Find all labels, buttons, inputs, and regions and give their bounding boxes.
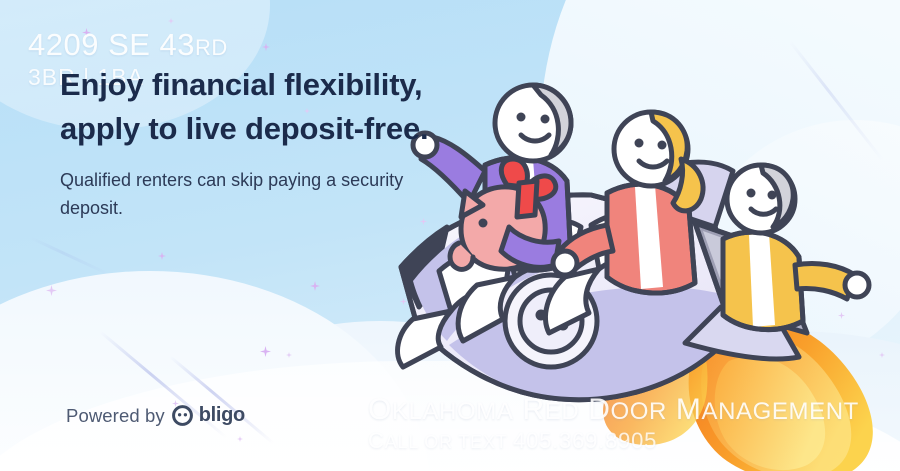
rider-yellow-jacket <box>723 165 869 330</box>
obligo-wordmark: bligo <box>199 404 245 427</box>
promo-headline: Enjoy financial flexibility, apply to li… <box>60 63 490 151</box>
company-phone-number: 405.369.8905 <box>513 428 657 453</box>
obligo-o-face-icon <box>172 405 193 426</box>
company-name-word: RED <box>522 393 579 426</box>
listing-address-suffix: RD <box>195 35 228 60</box>
company-name: OKLAHOMA RED DOOR MANAGEMENT <box>368 393 859 426</box>
sparkle-icon <box>286 352 292 358</box>
sparkle-icon <box>260 346 271 357</box>
headline-line-2: apply to live deposit-free. <box>60 107 490 151</box>
sparkle-icon <box>237 436 243 442</box>
company-overlay: OKLAHOMA RED DOOR MANAGEMENT CALL OR TEX… <box>368 393 859 453</box>
headline-line-1: Enjoy financial flexibility, <box>60 67 422 102</box>
sparkle-icon <box>158 252 166 260</box>
listing-address: 4209 SE 43RD <box>28 28 228 63</box>
promo-subheadline: Qualified renters can skip paying a secu… <box>60 167 420 223</box>
sparkle-icon <box>310 281 320 291</box>
sparkle-icon <box>46 285 57 296</box>
speed-streak <box>169 355 274 444</box>
sparkle-icon <box>168 18 174 24</box>
powered-by-obligo: Powered by bligo <box>66 404 245 427</box>
speed-streak <box>29 236 112 277</box>
listing-address-main: 4209 SE 43 <box>28 27 195 62</box>
company-name-word: OKLAHOMA <box>368 393 514 426</box>
company-name-word: DOOR <box>588 393 667 426</box>
powered-by-label: Powered by <box>66 405 165 427</box>
company-name-word: MANAGEMENT <box>676 393 859 426</box>
promo-banner: 4209 SE 43RD 3BR | 1BA Enjoy financial f… <box>0 0 900 471</box>
company-contact: CALL OR TEXT 405.369.8905 <box>368 429 859 453</box>
subhead-line-1: Qualified renters can skip paying a <box>60 170 336 190</box>
sparkle-icon <box>262 43 270 51</box>
